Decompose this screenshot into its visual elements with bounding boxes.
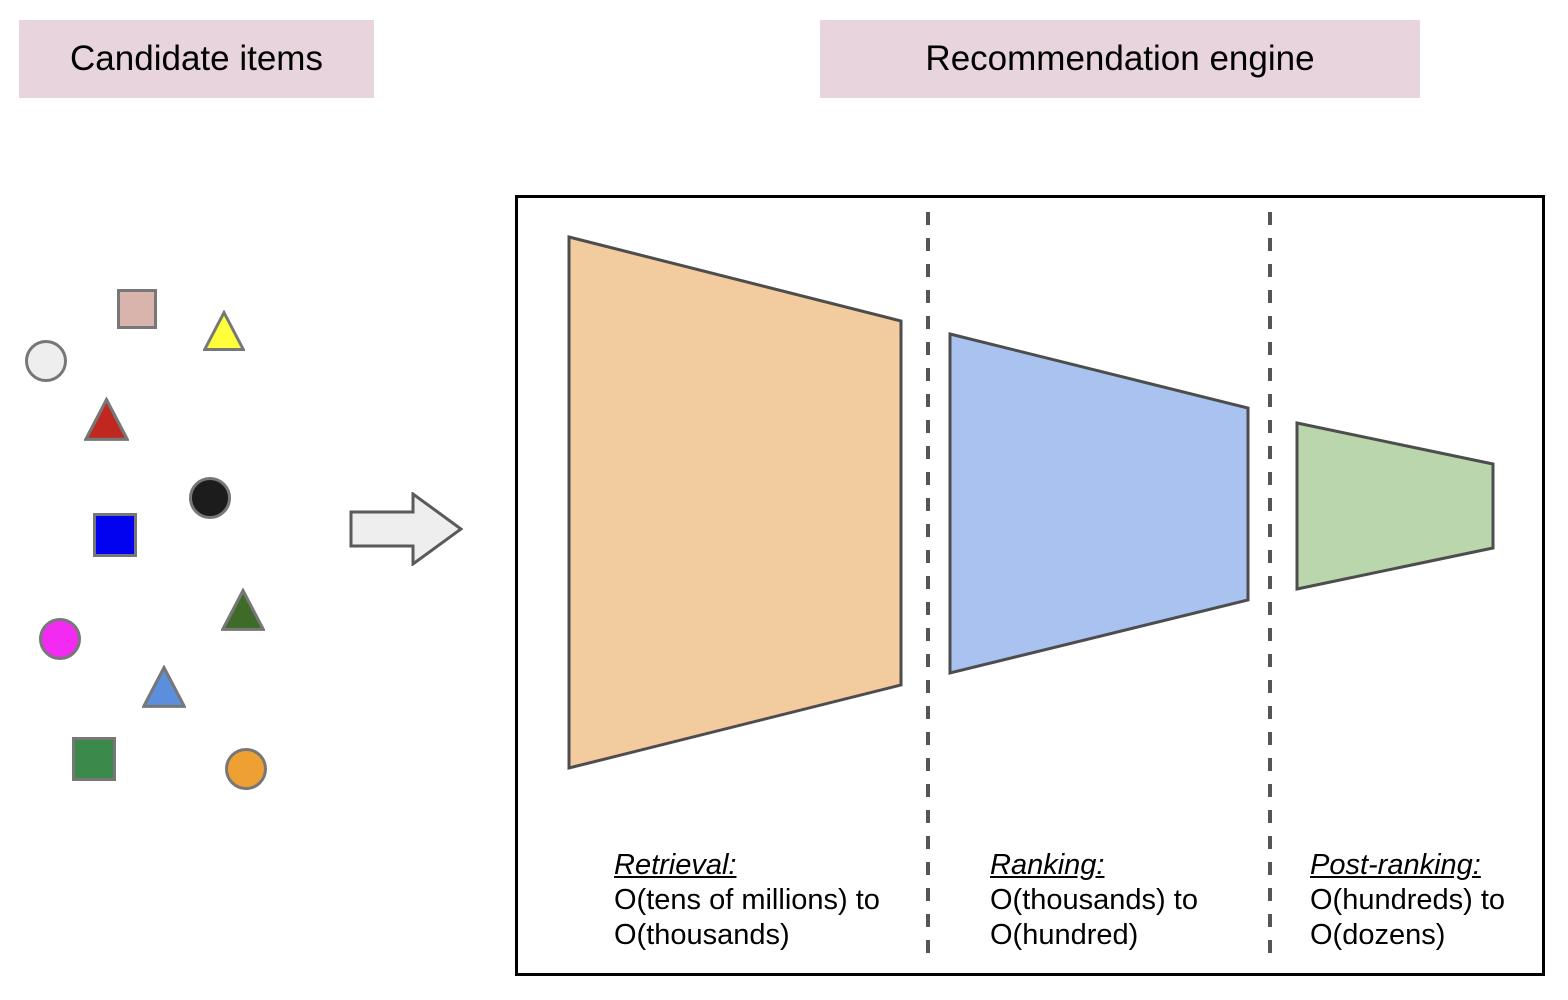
funnel-stage-retrieval (569, 237, 901, 768)
stage-line-postranking-2: O(dozens) (1310, 918, 1568, 953)
funnel-stage-postranking (1297, 423, 1493, 589)
stage-line-ranking-2: O(hundred) (990, 918, 1280, 953)
square-dusty-pink (117, 289, 157, 329)
recommendation-engine-label: Recommendation engine (925, 39, 1314, 79)
triangle-dark-red (84, 397, 129, 442)
stage-line-retrieval-1: O(tens of millions) to (614, 883, 914, 918)
stage-title-retrieval: Retrieval: (614, 848, 914, 883)
circle-magenta (39, 618, 81, 660)
circle-light-gray (25, 340, 67, 382)
stage-caption-postranking: Post-ranking: O(hundreds) to O(dozens) (1310, 848, 1568, 953)
stage-line-ranking-1: O(thousands) to (990, 883, 1280, 918)
funnel-stage-shapes (569, 237, 1493, 768)
stage-line-postranking-1: O(hundreds) to (1310, 883, 1568, 918)
stage-caption-retrieval: Retrieval: O(tens of millions) to O(thou… (614, 848, 914, 953)
candidate-items-header: Candidate items (19, 20, 374, 98)
square-green (72, 737, 116, 781)
circle-black (189, 477, 231, 519)
flow-arrow-icon (349, 492, 463, 566)
square-blue (93, 513, 137, 557)
stage-caption-ranking: Ranking: O(thousands) to O(hundred) (990, 848, 1280, 953)
triangle-dark-green (221, 588, 265, 632)
funnel-stage-ranking (950, 334, 1248, 673)
stage-title-postranking: Post-ranking: (1310, 848, 1568, 883)
circle-orange (225, 748, 267, 790)
candidate-items-canvas (0, 180, 330, 820)
triangle-yellow (203, 310, 245, 352)
recommendation-engine-panel: Retrieval: O(tens of millions) to O(thou… (515, 195, 1545, 976)
stage-title-ranking: Ranking: (990, 848, 1280, 883)
candidate-items-label: Candidate items (70, 39, 323, 79)
recommendation-engine-header: Recommendation engine (820, 20, 1420, 98)
triangle-blue (142, 665, 186, 709)
stage-line-retrieval-2: O(thousands) (614, 918, 914, 953)
